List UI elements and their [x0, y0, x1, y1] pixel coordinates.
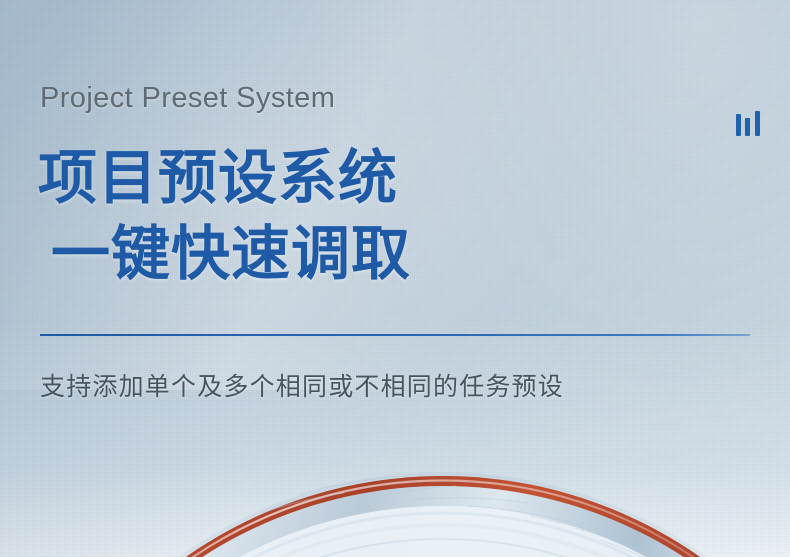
hero-headline-line-2: 一键快速调取: [38, 216, 411, 292]
three-bars-icon: [736, 111, 766, 139]
three-bars-icon-bar-3: [755, 111, 760, 136]
hero-subtitle: 支持添加单个及多个相同或不相同的任务预设: [40, 367, 564, 403]
three-bars-icon-bar-2: [745, 118, 750, 136]
hero-eyebrow: Project Preset System: [40, 82, 335, 115]
hero-headline: 项目预设系统 一键快速调取: [38, 140, 411, 292]
hero-headline-line-1: 项目预设系统: [38, 140, 411, 216]
background-glow-bottom: [0, 323, 790, 557]
promo-banner: Project Preset System 项目预设系统 一键快速调取 支持添加…: [0, 0, 790, 557]
three-bars-icon-bar-1: [736, 114, 741, 136]
hero-divider: [40, 334, 750, 336]
